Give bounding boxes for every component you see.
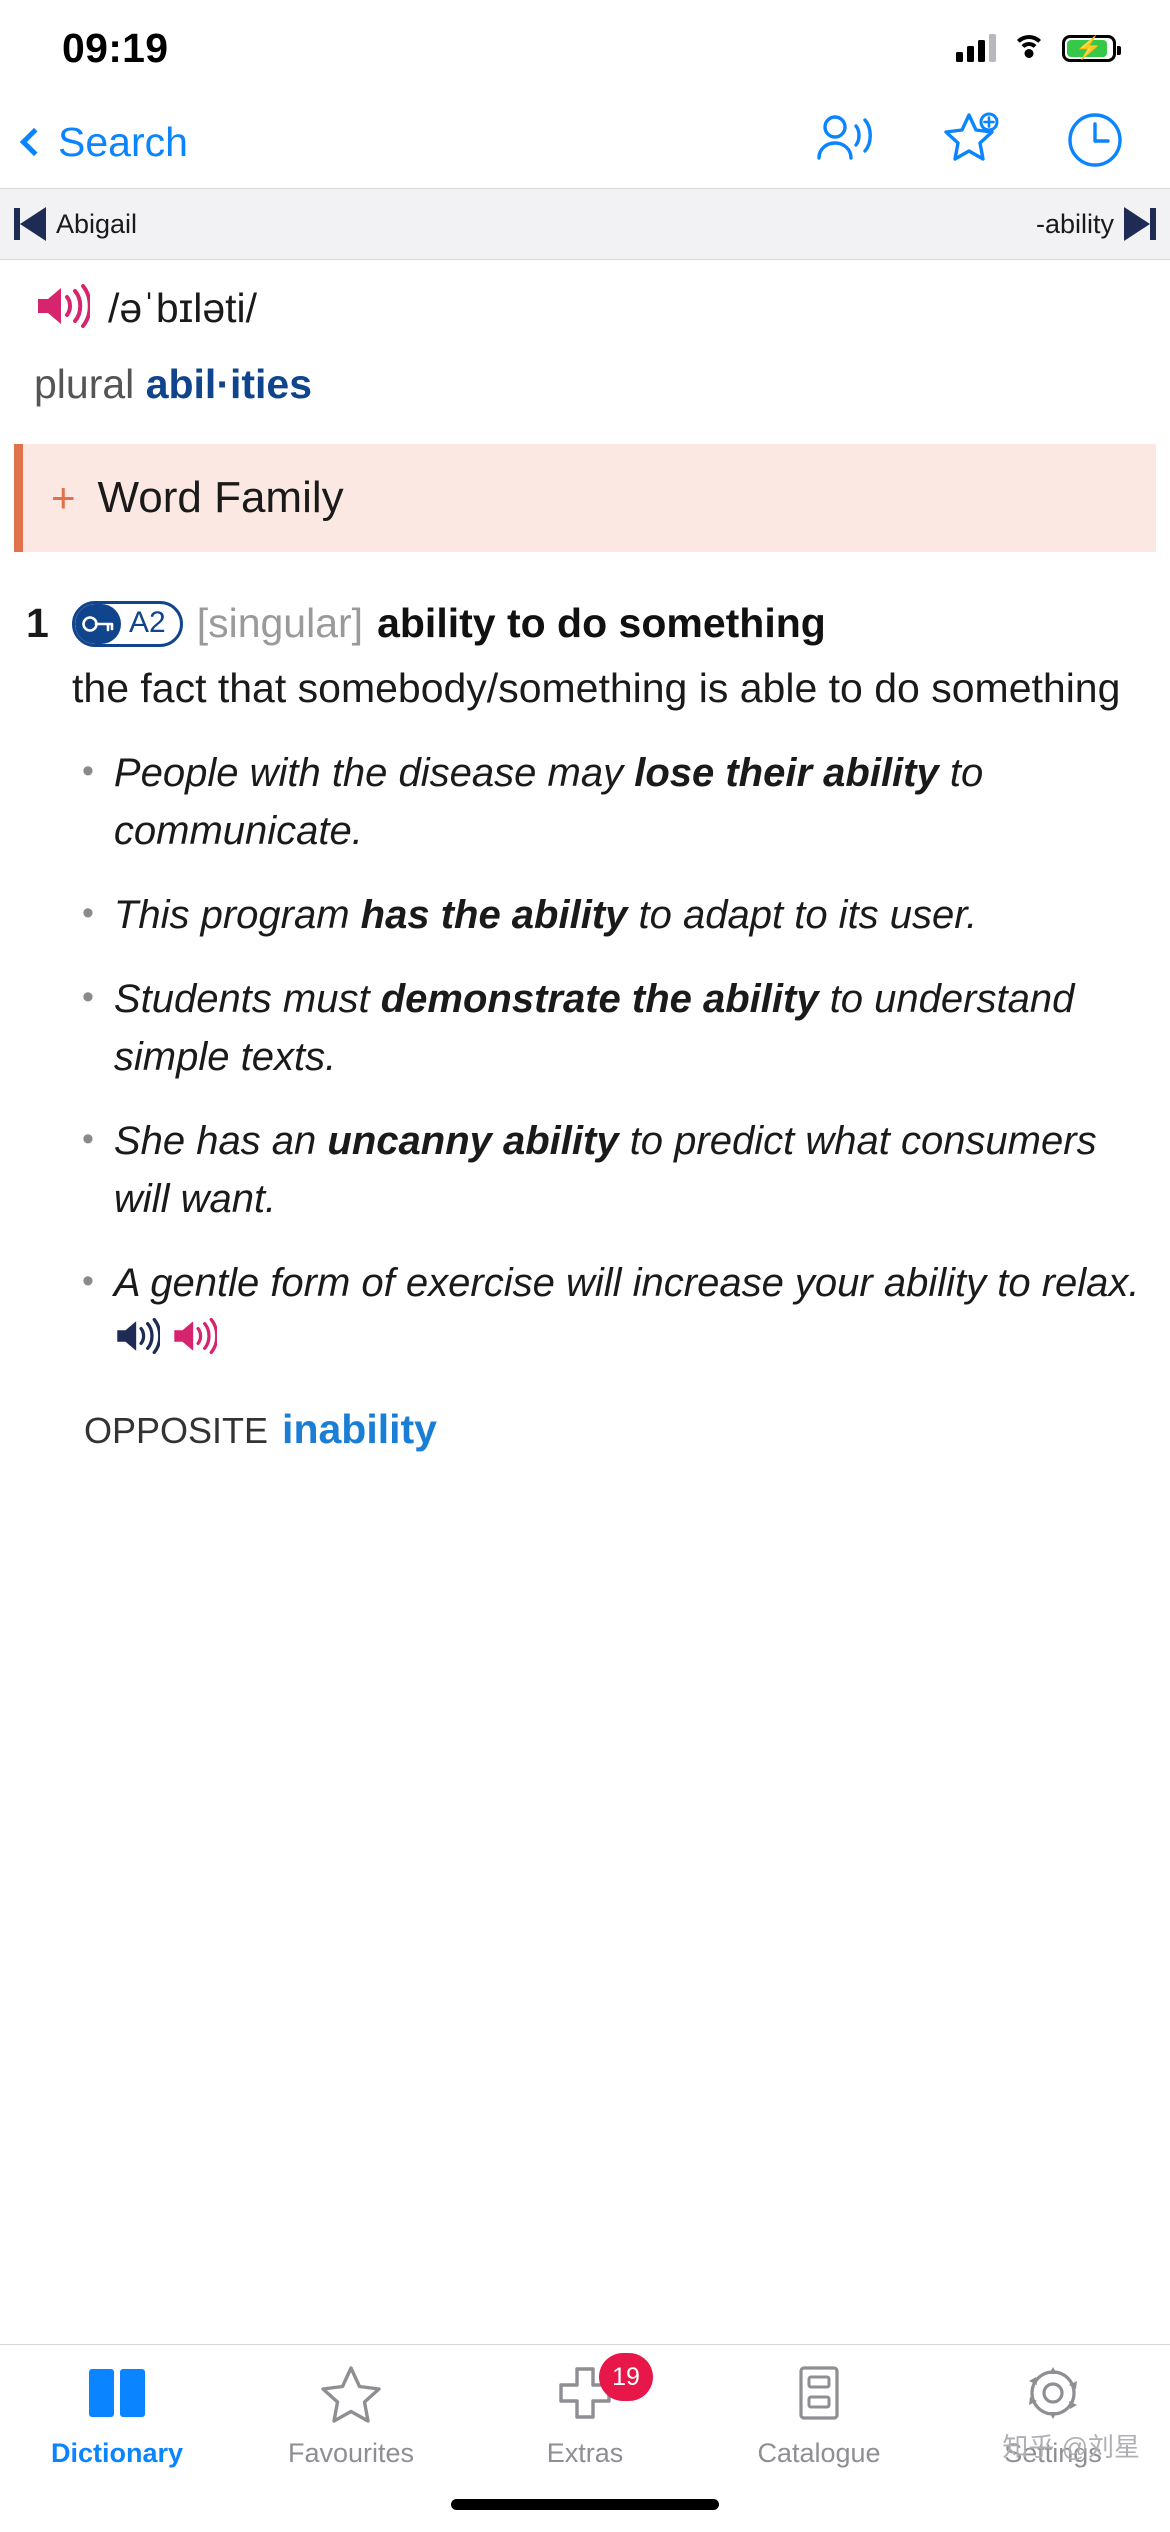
status-time: 09:19: [62, 25, 168, 72]
watermark: 知乎 @刘星: [1002, 2427, 1140, 2464]
plus-icon: +: [51, 477, 76, 519]
nav-action-group: [814, 111, 1124, 174]
speaker-uk-icon[interactable]: [34, 282, 90, 335]
cellular-signal-icon: [956, 34, 996, 62]
recent-history-icon[interactable]: [1066, 111, 1124, 174]
home-indicator[interactable]: [451, 2499, 719, 2510]
opposite-label: OPPOSITE: [84, 1410, 268, 1452]
opposite-row: OPPOSITE inability: [72, 1406, 1144, 1453]
list-item: • People with the disease may lose their…: [82, 744, 1144, 860]
pronunciation-practice-icon[interactable]: [814, 114, 878, 171]
pronunciation-text: /əˈbɪləti/: [108, 285, 257, 332]
star-icon: [319, 2363, 383, 2428]
tab-extras[interactable]: 19 Extras: [468, 2363, 702, 2469]
tab-label: Extras: [547, 2438, 624, 2469]
previous-entry-icon: [14, 207, 46, 241]
tab-label: Favourites: [288, 2438, 414, 2469]
drawer-icon: [787, 2363, 851, 2428]
status-indicators: ⚡: [956, 34, 1116, 62]
previous-entry-label: Abigail: [56, 209, 137, 240]
tab-dictionary[interactable]: Dictionary: [0, 2363, 234, 2469]
plural-label: plural: [34, 361, 134, 407]
bullet-icon: •: [82, 1254, 94, 1372]
navigation-bar: Search: [0, 96, 1170, 188]
back-button-label: Search: [58, 119, 188, 166]
word-family-banner[interactable]: + Word Family: [14, 444, 1156, 552]
book-icon: [85, 2363, 149, 2428]
example-text: A gentle form of exercise will increase …: [114, 1254, 1144, 1372]
example-text: She has an uncanny ability to predict wh…: [114, 1112, 1144, 1228]
bullet-icon: •: [82, 970, 94, 1086]
pronunciation-row: /əˈbɪləti/: [0, 260, 1170, 335]
next-entry-icon: [1124, 207, 1156, 241]
sense-definition: the fact that somebody/something is able…: [72, 659, 1144, 717]
sense-header: A2 [singular] ability to do something: [72, 596, 1144, 651]
speaker-us-icon[interactable]: [114, 1314, 160, 1372]
add-favourite-icon[interactable]: [942, 111, 1002, 174]
tab-catalogue[interactable]: Catalogue: [702, 2363, 936, 2469]
list-item: • This program has the ability to adapt …: [82, 886, 1144, 944]
sense-block: 1 A2 [singular] ability to do something …: [0, 552, 1170, 1453]
battery-charging-icon: ⚡: [1062, 35, 1116, 62]
sense-headword-phrase: ability to do something: [377, 596, 826, 651]
bullet-icon: •: [82, 744, 94, 860]
example-text: Students must demonstrate the ability to…: [114, 970, 1144, 1086]
extras-badge: 19: [599, 2353, 653, 2401]
gear-icon: [1021, 2363, 1085, 2428]
back-to-search-button[interactable]: Search: [24, 119, 188, 166]
tab-favourites[interactable]: Favourites: [234, 2363, 468, 2469]
grammar-label: [singular]: [197, 596, 363, 651]
example-list: • People with the disease may lose their…: [72, 744, 1144, 1372]
plural-row: plural abil·ities: [0, 335, 1170, 408]
list-item: • Students must demonstrate the ability …: [82, 970, 1144, 1086]
bullet-icon: •: [82, 886, 94, 944]
opposite-word-link[interactable]: inability: [282, 1406, 437, 1453]
entry-content[interactable]: /əˈbɪləti/ plural abil·ities + Word Fami…: [0, 260, 1170, 2094]
chevron-left-icon: [20, 128, 48, 156]
example-text: People with the disease may lose their a…: [114, 744, 1144, 860]
list-item: • A gentle form of exercise will increas…: [82, 1254, 1144, 1372]
next-entry-button[interactable]: -ability: [1036, 207, 1156, 241]
tab-label: Dictionary: [51, 2438, 183, 2469]
entry-navigation-strip: Abigail -ability: [0, 188, 1170, 260]
cefr-level-label: A2: [129, 603, 166, 644]
example-text: This program has the ability to adapt to…: [114, 886, 1144, 944]
next-entry-label: -ability: [1036, 209, 1114, 240]
oxford-key-icon: [75, 604, 121, 644]
speaker-uk-icon[interactable]: [171, 1314, 217, 1372]
previous-entry-button[interactable]: Abigail: [14, 207, 137, 241]
plural-form: abil·ities: [146, 361, 312, 407]
cefr-level-badge[interactable]: A2: [72, 601, 183, 647]
status-bar: 09:19 ⚡: [0, 0, 1170, 96]
word-family-label: Word Family: [98, 473, 344, 523]
bullet-icon: •: [82, 1112, 94, 1228]
wifi-icon: [1012, 35, 1046, 61]
sense-number: 1: [26, 596, 72, 1453]
tab-label: Catalogue: [757, 2438, 880, 2469]
list-item: • She has an uncanny ability to predict …: [82, 1112, 1144, 1228]
